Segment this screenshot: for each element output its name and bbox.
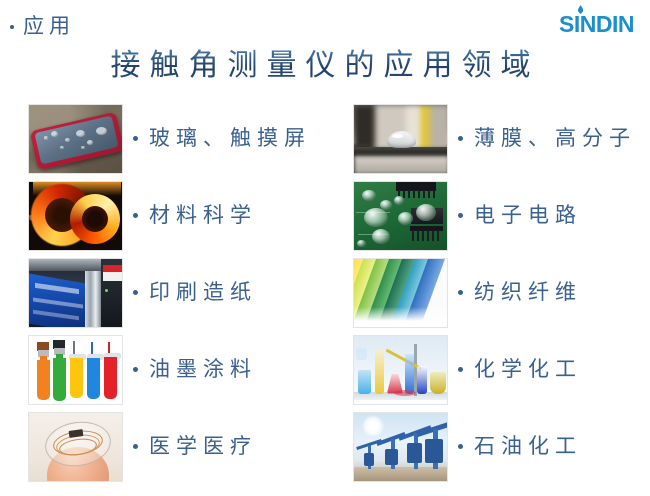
printing-press-blue-banner-photo (28, 258, 123, 328)
left-column: 玻璃、触摸屏 材料科学 (0, 100, 325, 485)
list-item[interactable]: 电子电路 (325, 177, 650, 254)
bullet-dot-icon (10, 25, 14, 29)
item-label-group: 印刷造纸 (133, 282, 257, 303)
slide-canvas: 应用 SINDIN 接触角测量仪的应用领域 (0, 0, 650, 496)
item-label: 油墨涂料 (149, 359, 257, 380)
item-label-group: 医学医疗 (133, 436, 257, 457)
item-label: 石油化工 (474, 436, 582, 457)
item-label: 薄膜、高分子 (474, 128, 636, 149)
rainbow-fabric-folds-photo (353, 258, 448, 328)
item-label: 电子电路 (474, 205, 582, 226)
bullet-dot-icon (458, 136, 463, 141)
header-bullet: 应用 (10, 16, 75, 37)
list-item[interactable]: 材料科学 (0, 177, 325, 254)
right-column: 薄膜、高分子 (325, 100, 650, 485)
item-label-group: 石油化工 (458, 436, 582, 457)
list-item[interactable]: 化学化工 (325, 331, 650, 408)
bullet-dot-icon (458, 444, 463, 449)
paint-brushes-rollers-photo (28, 335, 123, 405)
item-label: 玻璃、触摸屏 (149, 128, 311, 149)
item-label-group: 玻璃、触摸屏 (133, 128, 311, 149)
bullet-dot-icon (133, 444, 138, 449)
laboratory-glassware-photo (353, 335, 448, 405)
water-droplet-on-film-photo (353, 104, 448, 174)
item-label: 印刷造纸 (149, 282, 257, 303)
bullet-dot-icon (458, 290, 463, 295)
list-item[interactable]: 纺织纤维 (325, 254, 650, 331)
smartphone-water-droplets-photo (28, 104, 123, 174)
bullet-dot-icon (133, 367, 138, 372)
item-label-group: 薄膜、高分子 (458, 128, 636, 149)
bullet-dot-icon (458, 213, 463, 218)
item-label-group: 油墨涂料 (133, 359, 257, 380)
logo-text: SINDIN (559, 11, 634, 37)
item-label: 纺织纤维 (474, 282, 582, 303)
list-item[interactable]: 玻璃、触摸屏 (0, 100, 325, 177)
page-title: 接触角测量仪的应用领域 (0, 48, 650, 84)
smart-contact-lens-on-finger-photo (28, 412, 123, 482)
sindin-logo: SINDIN (559, 13, 634, 36)
list-item[interactable]: 薄膜、高分子 (325, 100, 650, 177)
item-label: 材料科学 (149, 205, 257, 226)
header-label: 应用 (23, 16, 75, 37)
bullet-dot-icon (458, 367, 463, 372)
list-item[interactable]: 印刷造纸 (0, 254, 325, 331)
bullet-dot-icon (133, 213, 138, 218)
item-label-group: 纺织纤维 (458, 282, 582, 303)
glowing-furnace-rings-photo (28, 181, 123, 251)
list-item[interactable]: 医学医疗 (0, 408, 325, 485)
bullet-dot-icon (133, 136, 138, 141)
item-label: 医学医疗 (149, 436, 257, 457)
item-label-group: 电子电路 (458, 205, 582, 226)
list-item[interactable]: 油墨涂料 (0, 331, 325, 408)
item-label-group: 材料科学 (133, 205, 257, 226)
item-label-group: 化学化工 (458, 359, 582, 380)
pcb-water-beads-photo (353, 181, 448, 251)
item-label: 化学化工 (474, 359, 582, 380)
oil-pumpjacks-photo (353, 412, 448, 482)
list-item[interactable]: 石油化工 (325, 408, 650, 485)
bullet-dot-icon (133, 290, 138, 295)
